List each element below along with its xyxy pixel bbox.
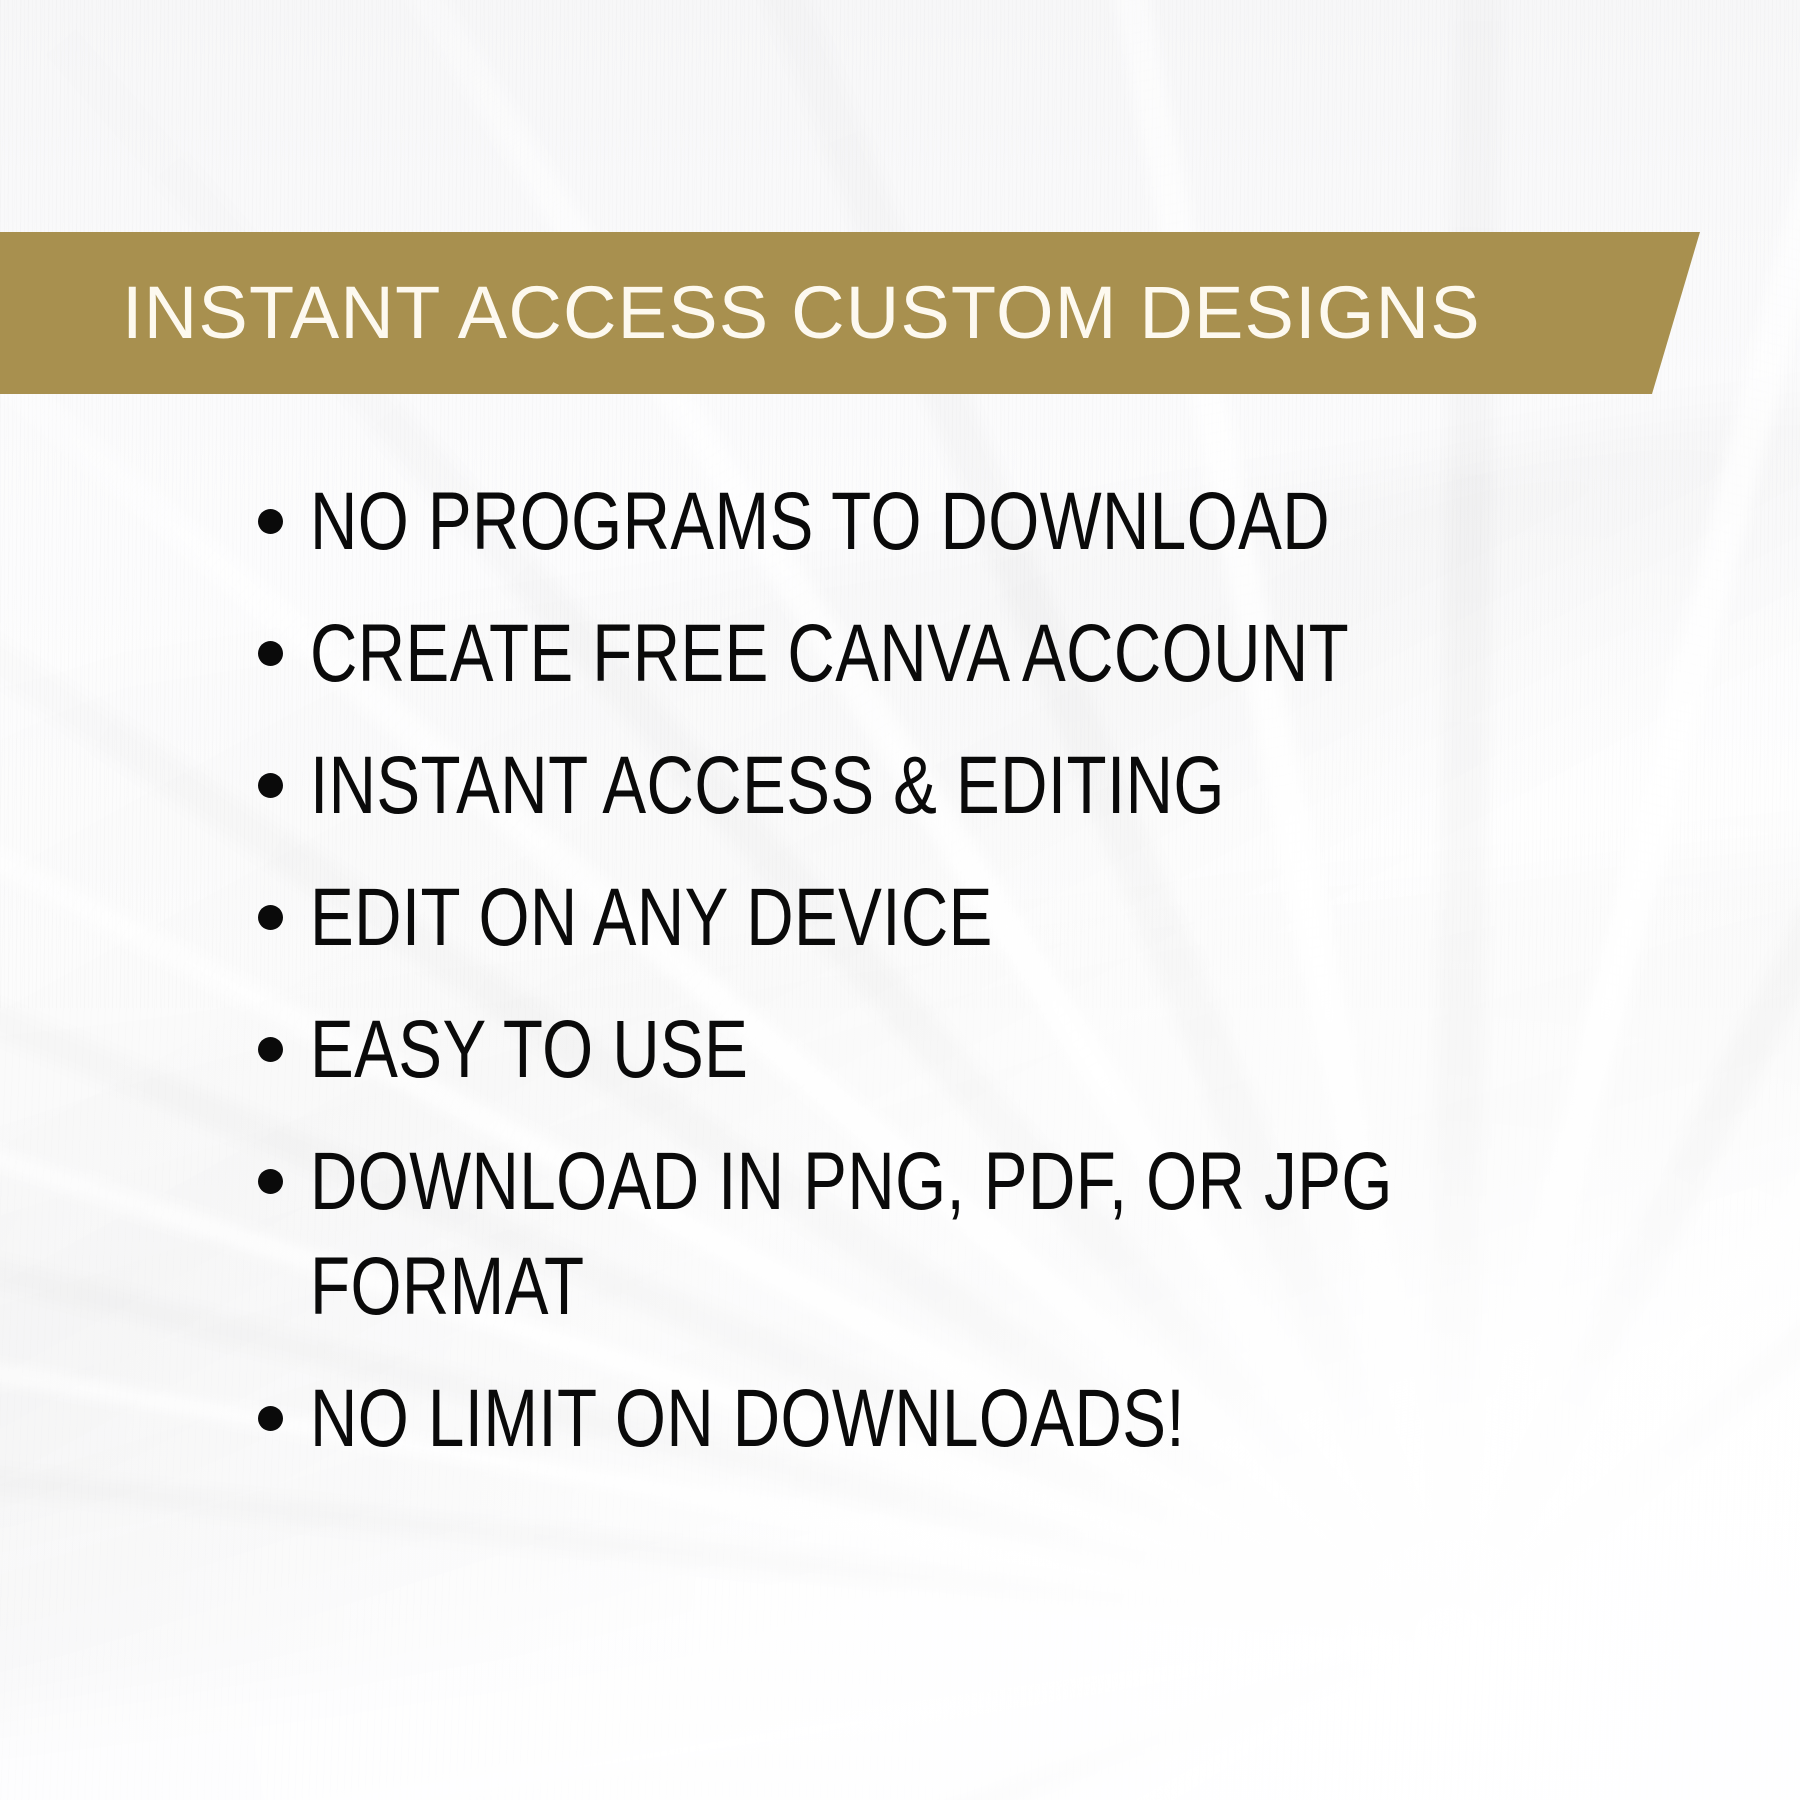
bullet-dot-icon	[258, 509, 283, 534]
list-item: INSTANT ACCESS & EDITING	[258, 734, 1678, 839]
bullet-dot-icon	[258, 1169, 283, 1194]
page-title: INSTANT ACCESS CUSTOM DESIGNS	[122, 232, 1481, 394]
list-item: NO PROGRAMS TO DOWNLOAD	[258, 470, 1678, 575]
list-item-label: NO LIMIT ON DOWNLOADS!	[310, 1367, 1404, 1472]
feature-list: NO PROGRAMS TO DOWNLOAD CREATE FREE CANV…	[258, 470, 1678, 1499]
list-item-label: NO PROGRAMS TO DOWNLOAD	[310, 470, 1404, 575]
header-banner: INSTANT ACCESS CUSTOM DESIGNS	[0, 232, 1710, 394]
bullet-dot-icon	[258, 773, 283, 798]
list-item: EASY TO USE	[258, 998, 1678, 1103]
list-item: EDIT ON ANY DEVICE	[258, 866, 1678, 971]
list-item-label: EDIT ON ANY DEVICE	[310, 866, 1404, 971]
poster-canvas: INSTANT ACCESS CUSTOM DESIGNS NO PROGRAM…	[0, 0, 1800, 1800]
list-item-label: EASY TO USE	[310, 998, 1404, 1103]
list-item-label: INSTANT ACCESS & EDITING	[310, 734, 1404, 839]
bullet-dot-icon	[258, 1037, 283, 1062]
list-item: DOWNLOAD IN PNG, PDF, OR JPG FORMAT	[258, 1130, 1678, 1340]
list-item: NO LIMIT ON DOWNLOADS!	[258, 1367, 1678, 1472]
list-item: CREATE FREE CANVA ACCOUNT	[258, 602, 1678, 707]
bullet-dot-icon	[258, 641, 283, 666]
list-item-label: CREATE FREE CANVA ACCOUNT	[310, 602, 1404, 707]
bullet-dot-icon	[258, 1406, 283, 1431]
bullet-dot-icon	[258, 905, 283, 930]
list-item-label: DOWNLOAD IN PNG, PDF, OR JPG FORMAT	[310, 1130, 1404, 1340]
